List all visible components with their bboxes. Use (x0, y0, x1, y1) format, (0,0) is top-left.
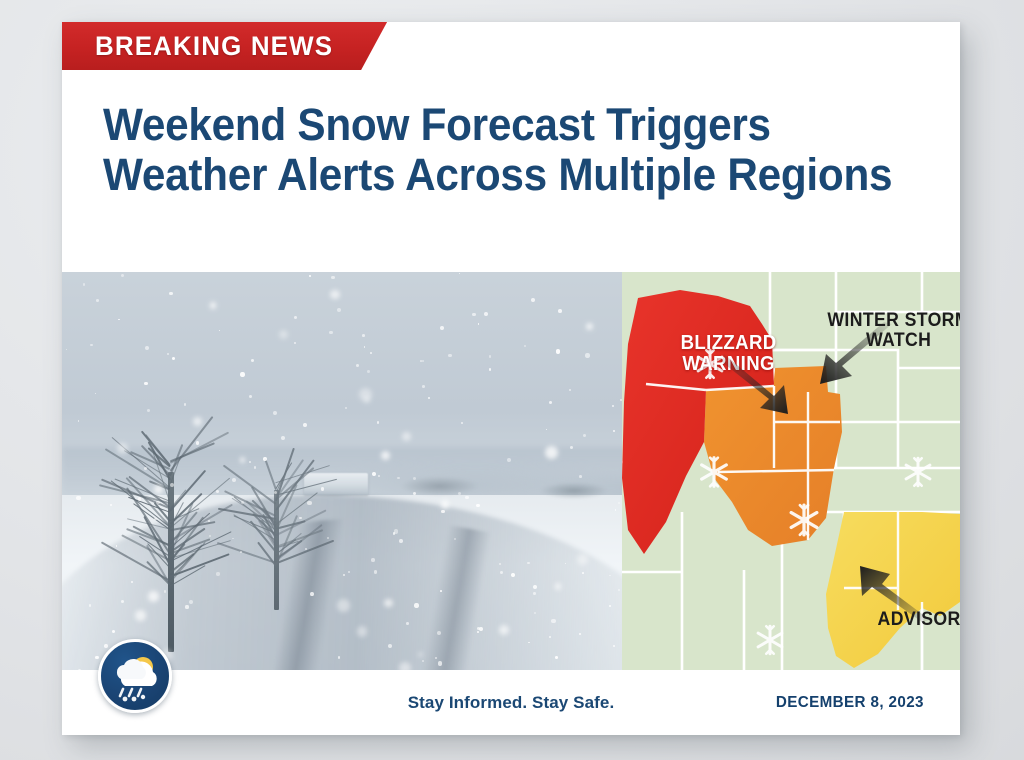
advisory-arrow-icon (852, 562, 932, 624)
headline-line-2: Weather Alerts Across Multiple Regions (103, 150, 890, 200)
tree-branch (169, 443, 214, 463)
weather-cloud-rain-sun-icon (101, 642, 169, 710)
blizzard-warning-arrow-icon (722, 352, 812, 422)
bare-tree-icon (212, 420, 352, 610)
card-footer: Stay Informed. Stay Safe. DECEMBER 8, 20… (62, 670, 960, 735)
tree-branch (264, 459, 276, 490)
blizzard-warning-label-line1: BLIZZARD (681, 333, 777, 354)
news-card: BREAKING NEWS Weekend Snow Forecast Trig… (62, 22, 960, 735)
winter-storm-watch-arrow-icon (814, 322, 894, 392)
breaking-news-label: BREAKING NEWS (95, 31, 333, 62)
page-title: Weekend Snow Forecast Triggers Weather A… (103, 100, 940, 201)
brand-logo (98, 639, 172, 713)
footer-date: DECEMBER 8, 2023 (776, 694, 924, 712)
headline-line-1: Weekend Snow Forecast Triggers (103, 100, 890, 150)
breaking-news-banner: BREAKING NEWS (62, 22, 387, 70)
